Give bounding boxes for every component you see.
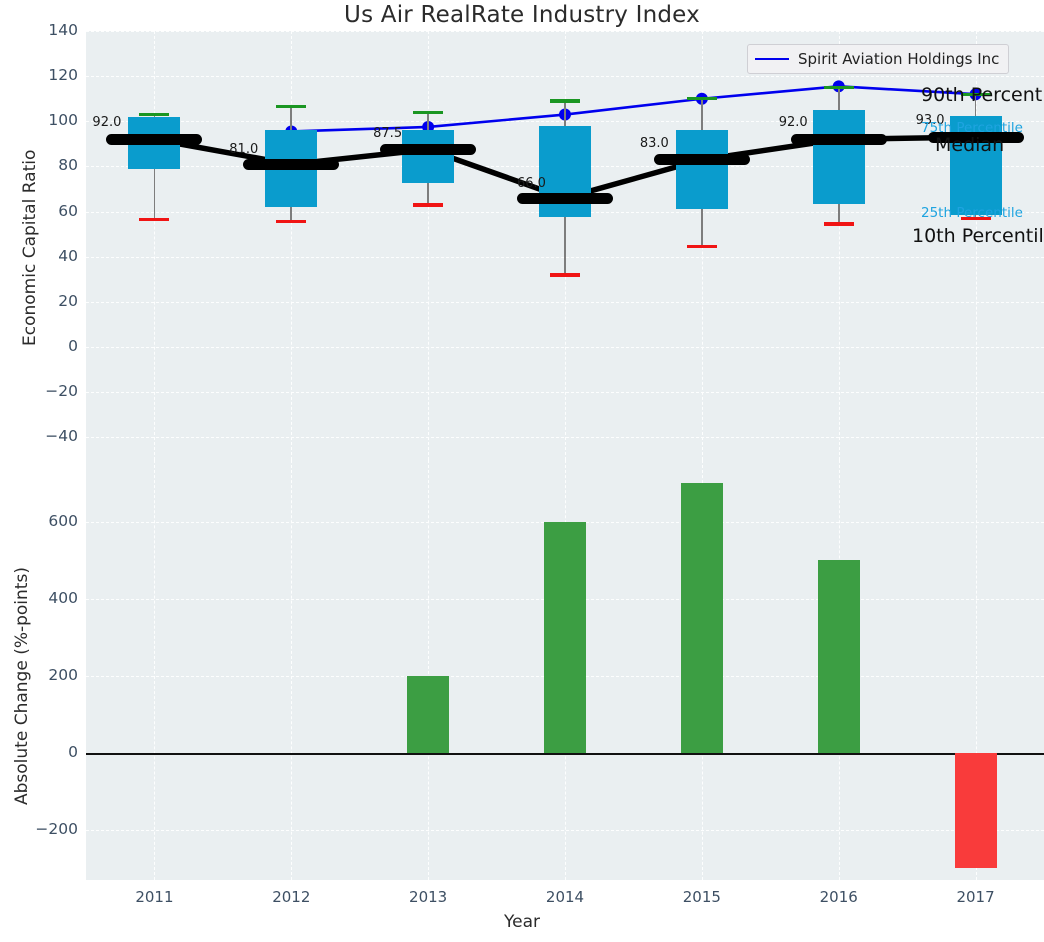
- x-tick-label-2014: 2014: [525, 888, 605, 906]
- cap-10th-2014: [550, 273, 580, 276]
- median-bar-2012: [243, 159, 339, 170]
- cap-90th-2016: [824, 86, 854, 89]
- cap-10th-2016: [824, 222, 854, 225]
- chart-root: Us Air RealRate Industry Index 92.081.08…: [0, 0, 1044, 942]
- y-tick-label-top: 140: [18, 21, 78, 39]
- y-tick-label-top: 100: [18, 111, 78, 129]
- median-value-label-2014: 66.0: [517, 176, 546, 191]
- legend-series-label: Spirit Aviation Holdings Inc: [798, 50, 999, 68]
- gridline-vertical: [291, 460, 292, 880]
- x-tick-label-2016: 2016: [799, 888, 879, 906]
- bar-2015: [681, 483, 723, 753]
- cap-10th-2011: [139, 218, 169, 221]
- bar-2013: [407, 676, 449, 753]
- y-tick-label-bottom: 600: [8, 512, 78, 530]
- annotation-10th-percentile: 10th Percentile: [912, 225, 1044, 247]
- bar-2017: [955, 753, 997, 869]
- box-2013: [402, 130, 454, 183]
- y-axis-label-top: Economic Capital Ratio: [20, 149, 40, 345]
- median-value-label-2011: 92.0: [92, 115, 121, 130]
- cap-10th-2012: [276, 220, 306, 223]
- median-bar-2013: [380, 144, 476, 155]
- cap-90th-2014: [550, 99, 580, 102]
- x-tick-label-2015: 2015: [662, 888, 742, 906]
- y-tick-label-top: −40: [18, 427, 78, 445]
- median-value-label-2016: 92.0: [779, 115, 808, 130]
- legend-line-swatch: [755, 58, 789, 60]
- box-2016: [813, 110, 865, 204]
- gridline-vertical: [154, 460, 155, 880]
- x-tick-label-2017: 2017: [936, 888, 1016, 906]
- median-bar-2016: [791, 134, 887, 145]
- gridline-vertical: [428, 460, 429, 880]
- median-value-label-2015: 83.0: [640, 136, 669, 151]
- x-axis-label: Year: [0, 912, 1044, 932]
- box-2015: [676, 130, 728, 209]
- annotation-25th-percentile: 25th Percentile: [921, 205, 1023, 221]
- x-tick-label-2012: 2012: [251, 888, 331, 906]
- cap-10th-2013: [413, 203, 443, 206]
- cap-90th-2011: [139, 113, 169, 116]
- cap-10th-2015: [687, 245, 717, 248]
- median-bar-2011: [106, 134, 202, 145]
- median-value-label-2013: 87.5: [373, 126, 402, 141]
- x-tick-label-2013: 2013: [388, 888, 468, 906]
- median-bar-2014: [517, 193, 613, 204]
- cap-90th-2015: [687, 97, 717, 100]
- y-axis-label-bottom: Absolute Change (%-points): [12, 567, 32, 805]
- chart-legend[interactable]: Spirit Aviation Holdings Inc: [747, 44, 1009, 74]
- zero-baseline: [86, 753, 1044, 755]
- y-tick-label-bottom: −200: [8, 820, 78, 838]
- cap-90th-2013: [413, 111, 443, 114]
- median-value-label-2012: 81.0: [229, 142, 258, 157]
- y-tick-label-top: 120: [18, 66, 78, 84]
- x-tick-label-2011: 2011: [114, 888, 194, 906]
- median-bar-2015: [654, 154, 750, 165]
- annotation-median: Median: [935, 134, 1004, 156]
- y-tick-label-top: −20: [18, 382, 78, 400]
- bar-2014: [544, 522, 586, 753]
- bar-2016: [818, 560, 860, 753]
- annotation-90th-percentile: 90th Percentile: [921, 84, 1044, 106]
- cap-90th-2012: [276, 105, 306, 108]
